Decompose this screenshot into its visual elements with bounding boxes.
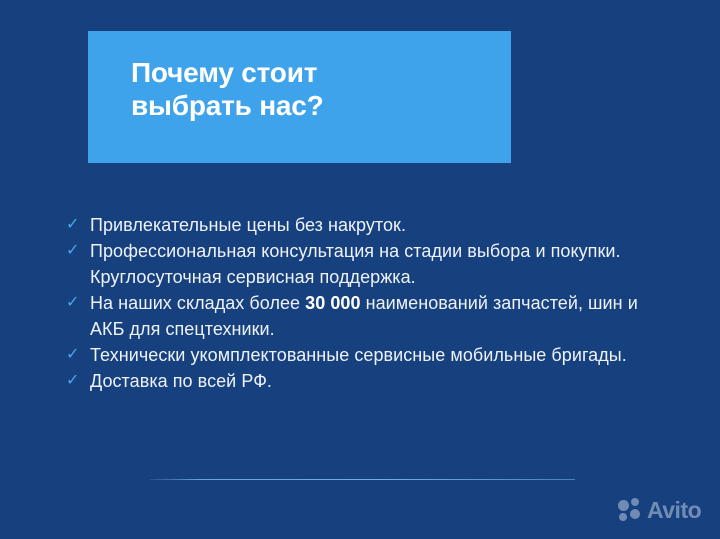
list-item-label: Доставка по всей РФ. <box>90 368 664 394</box>
avito-wordmark: Avito <box>647 498 701 522</box>
check-icon: ✓ <box>64 368 90 394</box>
page-title: Почему стоит выбрать нас? <box>131 56 493 122</box>
avito-watermark: Avito <box>618 498 701 522</box>
avito-dot-3 <box>619 513 627 521</box>
avito-dot-2 <box>631 498 639 506</box>
check-icon: ✓ <box>64 238 90 264</box>
list-item: ✓ Профессиональная консультация на стади… <box>64 238 664 290</box>
highlight-count: 30 000 <box>305 293 360 313</box>
avito-dot-1 <box>618 500 629 511</box>
list-item-text-before: На наших складах более <box>90 293 305 313</box>
list-item: ✓ Привлекательные цены без накруток. <box>64 212 664 238</box>
title-box: Почему стоит выбрать нас? <box>88 31 511 163</box>
list-item-label: На наших складах более 30 000 наименован… <box>90 290 664 342</box>
list-item-label: Технически укомплектованные сервисные мо… <box>90 342 664 368</box>
list-item: ✓ Доставка по всей РФ. <box>64 368 664 394</box>
divider <box>150 479 575 480</box>
list-item-label: Привлекательные цены без накруток. <box>90 212 664 238</box>
avito-logo-icon <box>618 498 644 522</box>
list-item: ✓ Технически укомплектованные сервисные … <box>64 342 664 368</box>
benefits-list: ✓ Привлекательные цены без накруток. ✓ П… <box>64 212 664 394</box>
slide-canvas: Почему стоит выбрать нас? ✓ Привлекатель… <box>0 0 720 539</box>
check-icon: ✓ <box>64 342 90 368</box>
list-item-label: Профессиональная консультация на стадии … <box>90 238 664 290</box>
avito-dot-4 <box>630 509 640 519</box>
check-icon: ✓ <box>64 290 90 316</box>
list-item: ✓ На наших складах более 30 000 наименов… <box>64 290 664 342</box>
check-icon: ✓ <box>64 212 90 238</box>
